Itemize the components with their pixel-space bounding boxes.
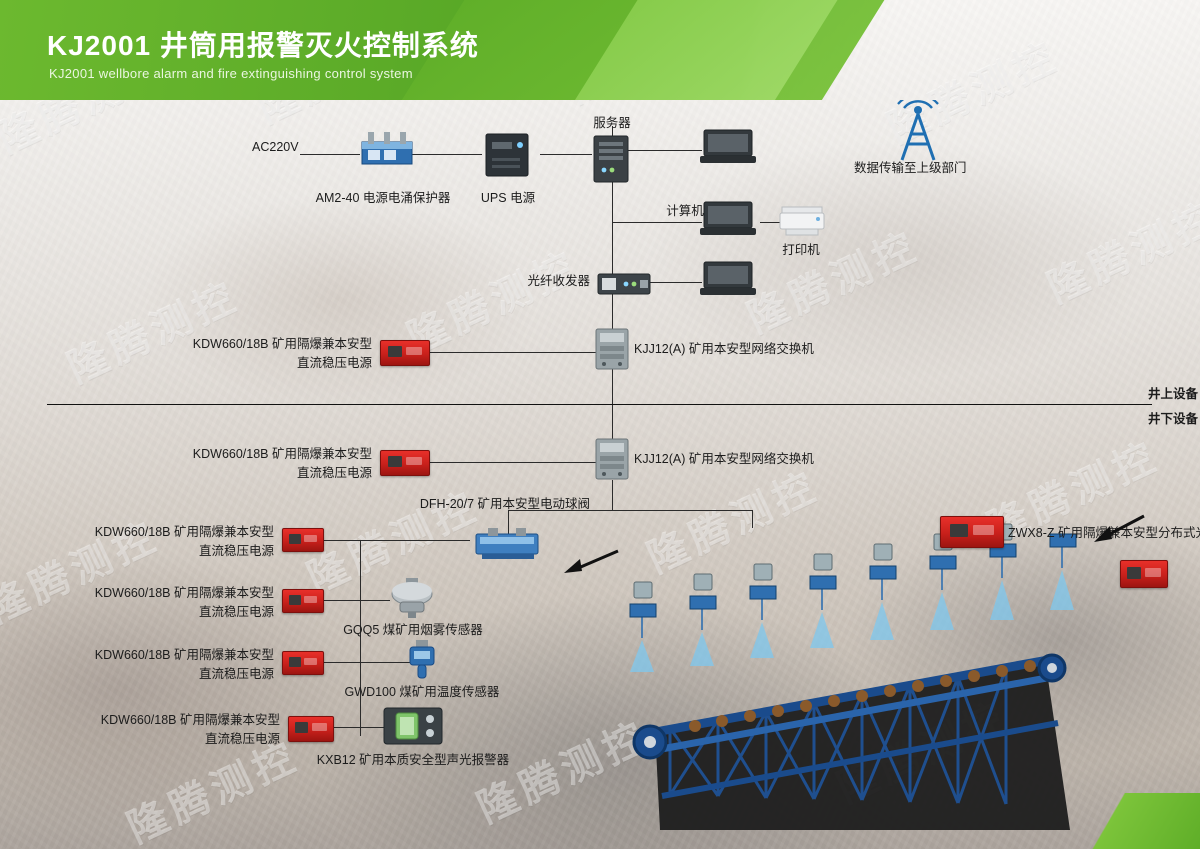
wire-fiber-host-drop	[752, 510, 753, 528]
label-server: 服务器	[568, 115, 656, 132]
diagram-page: 隆腾测控 隆腾测控 隆腾测控 隆腾测控 隆腾测控 隆腾测控 隆腾测控 隆腾测控 …	[0, 0, 1200, 849]
field-device-red	[1120, 560, 1168, 588]
page-header: KJ2001 井筒用报警灭火控制系统 KJ2001 wellbore alarm…	[0, 0, 1200, 100]
computer-device	[700, 128, 758, 168]
label-switch-down: KJJ12(A) 矿用本安型网络交换机	[634, 451, 814, 468]
wire-ps4-to-trunk	[320, 600, 360, 601]
label-power-supply-1-line1: KDW660/18B 矿用隔爆兼本安型	[172, 336, 372, 353]
label-below-ground: 井下设备	[1148, 411, 1198, 428]
wire-ps6-to-alarm	[330, 727, 360, 728]
label-printer: 打印机	[760, 242, 842, 259]
power-supply-device	[282, 589, 324, 613]
surge-protector-device	[358, 130, 416, 172]
ball-valve-device	[472, 528, 544, 562]
label-power-supply-6-line1: KDW660/18B 矿用隔爆兼本安型	[74, 712, 280, 729]
label-computer: 计算机	[625, 203, 745, 220]
label-smoke-sensor: GQQ5 煤矿用烟雾传感器	[340, 622, 486, 639]
temperature-sensor-device	[406, 640, 440, 682]
fiber-temp-host-device	[940, 516, 1004, 548]
wire-trunk-to-valve	[360, 540, 470, 541]
printer-device	[778, 205, 826, 239]
page-subtitle: KJ2001 wellbore alarm and fire extinguis…	[49, 66, 413, 81]
wire-surge-to-ups	[412, 154, 482, 155]
label-power-supply-3-line1: KDW660/18B 矿用隔爆兼本安型	[74, 524, 274, 541]
wire-ups-to-server	[540, 154, 592, 155]
label-surge-protector: AM2-40 电源电涌保护器	[303, 190, 463, 207]
audible-visual-alarm-device	[382, 704, 444, 748]
wire-trunk-to-smoke	[360, 600, 390, 601]
label-alarm: KXB12 矿用本质安全型声光报警器	[310, 752, 516, 769]
label-power-supply-4-line1: KDW660/18B 矿用隔爆兼本安型	[74, 585, 274, 602]
fiber-transceiver-device	[596, 268, 654, 302]
wire-ps3-to-trunk	[320, 540, 360, 541]
network-switch-device	[594, 327, 632, 371]
ground-divider	[47, 404, 1152, 405]
wire-power-to-switch-up	[428, 352, 596, 353]
page-title: KJ2001 井筒用报警灭火控制系统	[47, 24, 479, 64]
label-data-upload: 数据传输至上级部门	[854, 160, 967, 177]
label-temp-sensor: GWD100 煤矿用温度传感器	[344, 684, 500, 701]
power-supply-device	[380, 450, 430, 476]
label-switch-up: KJJ12(A) 矿用本安型网络交换机	[634, 341, 814, 358]
label-power-supply-5-line1: KDW660/18B 矿用隔爆兼本安型	[74, 647, 274, 664]
arrow-left-1	[560, 545, 620, 577]
computer-device	[700, 260, 758, 300]
power-supply-device	[282, 528, 324, 552]
wire-bus-to-fiber-host	[612, 510, 752, 511]
wire-to-computer-2	[612, 222, 702, 223]
power-supply-device	[380, 340, 430, 366]
power-supply-device	[288, 716, 334, 742]
server-device	[592, 134, 632, 184]
arrow-left-2	[1090, 512, 1146, 546]
label-ups: UPS 电源	[462, 190, 554, 207]
label-power-supply-2-line2: 直流稳压电源	[172, 465, 372, 482]
label-ball-valve: DFH-20/7 矿用本安型电动球阀	[390, 496, 590, 513]
label-power-supply-1-line2: 直流稳压电源	[172, 355, 372, 372]
label-power-supply-5-line2: 直流稳压电源	[74, 666, 274, 683]
label-fiber-transceiver: 光纤收发器	[478, 273, 590, 290]
label-ac220v: AC220V	[252, 139, 299, 156]
label-power-supply-2-line1: KDW660/18B 矿用隔爆兼本安型	[172, 446, 372, 463]
wire-power-to-switch-down	[428, 462, 596, 463]
label-above-ground: 井上设备	[1148, 386, 1198, 403]
label-power-supply-3-line2: 直流稳压电源	[74, 543, 274, 560]
ups-device	[484, 132, 532, 178]
network-switch-device	[594, 437, 632, 481]
label-power-supply-4-line2: 直流稳压电源	[74, 604, 274, 621]
antenna-icon	[890, 100, 946, 164]
wire-trunk-to-temp	[360, 662, 410, 663]
power-supply-device	[282, 651, 324, 675]
wire-ac-to-surge	[300, 154, 360, 155]
label-power-supply-6-line2: 直流稳压电源	[74, 731, 280, 748]
wire-switch-down-bus	[612, 480, 613, 510]
wire-ps5-to-trunk	[320, 662, 360, 663]
smoke-sensor-device	[388, 578, 436, 620]
